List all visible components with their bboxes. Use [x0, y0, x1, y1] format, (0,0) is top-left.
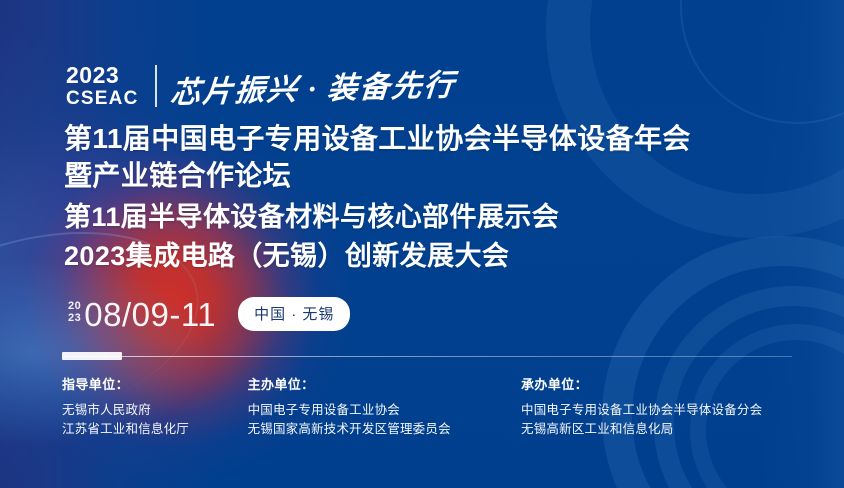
logo-lockup: 2023 CSEAC 芯片振兴 · 装备先行: [66, 62, 455, 110]
organiser-column-host: 主办单位： 中国电子专用设备工业协会 无锡国家高新技术开发区管理委员会: [248, 374, 521, 439]
headline-line-1: 第11届中国电子专用设备工业协会半导体设备年会: [64, 120, 691, 157]
organiser-entity: 无锡市人民政府: [62, 401, 248, 420]
organiser-entity: 无锡高新区工业和信息化局: [521, 420, 814, 439]
organiser-role-label: 指导单位：: [62, 374, 248, 393]
logo-slogan: 芯片振兴 · 装备先行: [168, 60, 457, 112]
organiser-entity: 中国电子专用设备工业协会: [248, 401, 521, 420]
organiser-column-undertaker: 承办单位： 中国电子专用设备工业协会半导体设备分会 无锡高新区工业和信息化局: [521, 374, 814, 439]
event-year: 20 23: [68, 301, 81, 326]
organiser-role-label: 承办单位：: [521, 374, 814, 393]
logo-name: CSEAC: [66, 89, 139, 108]
event-date-range: 08/09-11: [84, 298, 216, 331]
poster-content: 2023 CSEAC 芯片振兴 · 装备先行 第11届中国电子专用设备工业协会半…: [0, 0, 844, 488]
organiser-column-guidance: 指导单位： 无锡市人民政府 江苏省工业和信息化厅: [62, 374, 248, 439]
conference-poster: 2023 CSEAC 芯片振兴 · 装备先行 第11届中国电子专用设备工业协会半…: [0, 0, 844, 488]
organiser-role-label: 主办单位：: [248, 374, 521, 393]
logo-year: 2023: [66, 64, 119, 87]
headline-line-4: 2023集成电路（无锡）创新发展大会: [64, 237, 691, 276]
organiser-columns: 指导单位： 无锡市人民政府 江苏省工业和信息化厅 主办单位： 中国电子专用设备工…: [62, 374, 814, 439]
event-city-badge: 中国 · 无锡: [238, 297, 350, 331]
headline-line-3: 第11届半导体设备材料与核心部件展示会: [64, 198, 691, 237]
organiser-entity: 无锡国家高新技术开发区管理委员会: [248, 420, 521, 439]
headline-block: 第11届中国电子专用设备工业协会半导体设备年会 暨产业链合作论坛 第11届半导体…: [64, 120, 691, 276]
organiser-entity: 中国电子专用设备工业协会半导体设备分会: [521, 401, 814, 420]
section-divider-cap: [62, 352, 122, 360]
section-divider: [62, 356, 792, 357]
headline-line-2: 暨产业链合作论坛: [64, 157, 691, 194]
event-date-row: 20 23 08/09-11 中国 · 无锡: [68, 294, 350, 334]
event-year-bottom: 23: [68, 313, 81, 325]
logo-divider: [155, 65, 157, 107]
cseac-logo: 2023 CSEAC: [66, 64, 139, 108]
organiser-entity: 江苏省工业和信息化厅: [62, 420, 248, 439]
